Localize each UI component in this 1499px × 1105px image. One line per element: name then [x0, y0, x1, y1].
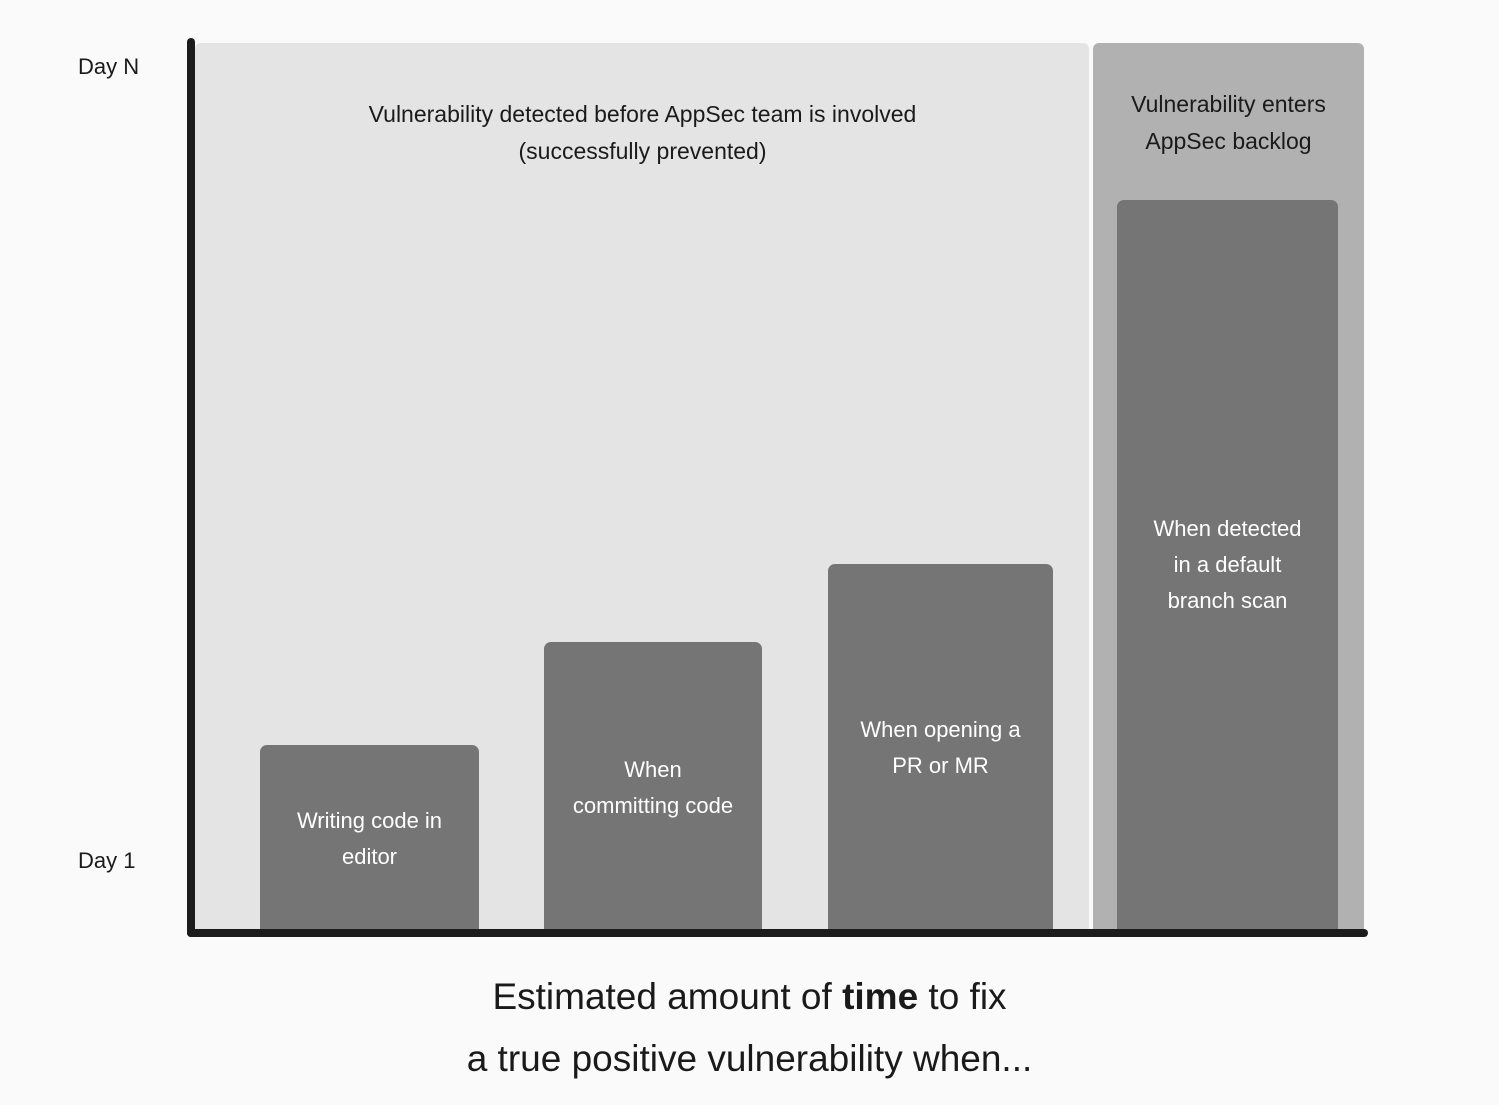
bar-writing-code-in-editor: Writing code in editor [260, 745, 479, 930]
bar-when-opening-pr-or-mr: When opening a PR or MR [828, 564, 1053, 930]
bar-label-line1: When detected [1117, 511, 1338, 547]
x-axis-line [187, 929, 1368, 937]
chart-caption-line1: Estimated amount of time to fix [0, 966, 1499, 1028]
chart-caption-line2: a true positive vulnerability when... [0, 1028, 1499, 1090]
y-axis-tick-top: Day N [78, 54, 139, 80]
bar-label-line1: Writing code in [260, 803, 479, 839]
bar-when-committing-code: When committing code [544, 642, 762, 930]
time-to-fix-bar-chart: Day N Day 1 Vulnerability detected befor… [0, 0, 1499, 1105]
region-backlog-label: Vulnerability enters AppSec backlog [1103, 86, 1354, 160]
bar-label-line1: When opening a [828, 712, 1053, 748]
region-backlog-label-line2: AppSec backlog [1103, 123, 1354, 160]
bar-label-when-committing-code: When committing code [544, 752, 762, 824]
y-axis-tick-bottom: Day 1 [78, 848, 135, 874]
region-backlog-label-line1: Vulnerability enters [1103, 86, 1354, 123]
region-prevented-label-line2: (successfully prevented) [245, 133, 1040, 170]
y-axis-line [187, 38, 195, 937]
bar-label-writing-code-in-editor: Writing code in editor [260, 803, 479, 875]
bar-label-line2: editor [260, 839, 479, 875]
region-prevented-label-line1: Vulnerability detected before AppSec tea… [245, 96, 1040, 133]
bar-label-line1: When [544, 752, 762, 788]
chart-caption: Estimated amount of time to fix a true p… [0, 966, 1499, 1090]
bar-label-line2: in a default [1117, 547, 1338, 583]
chart-caption-emphasis: time [842, 976, 918, 1017]
region-prevented-label: Vulnerability detected before AppSec tea… [245, 96, 1040, 170]
chart-caption-pre: Estimated amount of [492, 976, 842, 1017]
bar-label-line2: committing code [544, 788, 762, 824]
bar-label-when-opening-pr-or-mr: When opening a PR or MR [828, 712, 1053, 784]
bar-when-detected-in-default-branch-scan: When detected in a default branch scan [1117, 200, 1338, 930]
bar-label-when-detected-in-default-branch-scan: When detected in a default branch scan [1117, 511, 1338, 619]
bar-label-line2: PR or MR [828, 748, 1053, 784]
bar-label-line3: branch scan [1117, 583, 1338, 619]
chart-caption-post: to fix [918, 976, 1006, 1017]
